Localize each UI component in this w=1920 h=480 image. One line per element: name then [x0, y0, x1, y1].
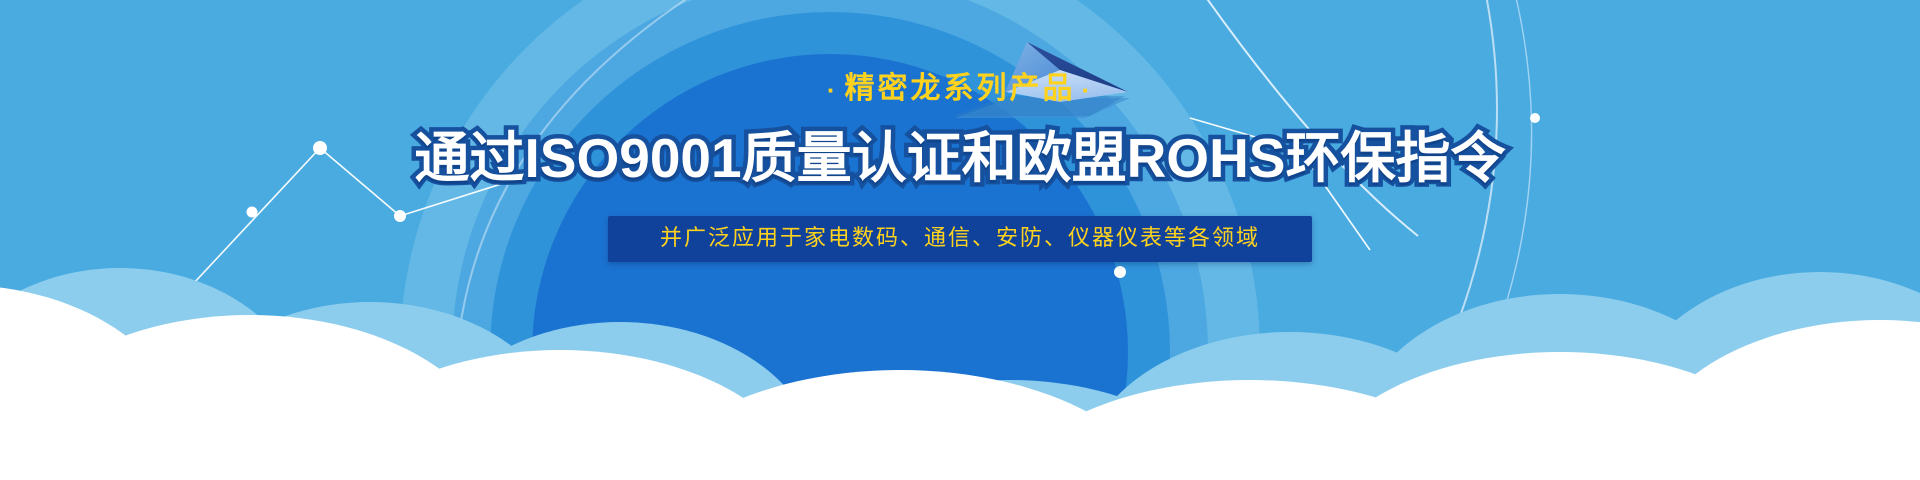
eyebrow-text: 精密龙系列产品 — [845, 72, 1076, 105]
subtitle-text: 并广泛应用于家电数码、通信、安防、仪器仪表等各领域 — [660, 227, 1260, 249]
promo-banner: ·精密龙系列产品· 通过ISO9001质量认证和欧盟ROHS环保指令 并广泛应用… — [0, 0, 1920, 480]
eyebrow-dot-left: · — [821, 75, 845, 105]
headline: 通过ISO9001质量认证和欧盟ROHS环保指令 — [414, 128, 1505, 190]
eyebrow-dot-right: · — [1076, 75, 1100, 105]
subtitle-bar: 并广泛应用于家电数码、通信、安防、仪器仪表等各领域 — [608, 216, 1312, 262]
eyebrow-line: ·精密龙系列产品· — [821, 74, 1099, 104]
